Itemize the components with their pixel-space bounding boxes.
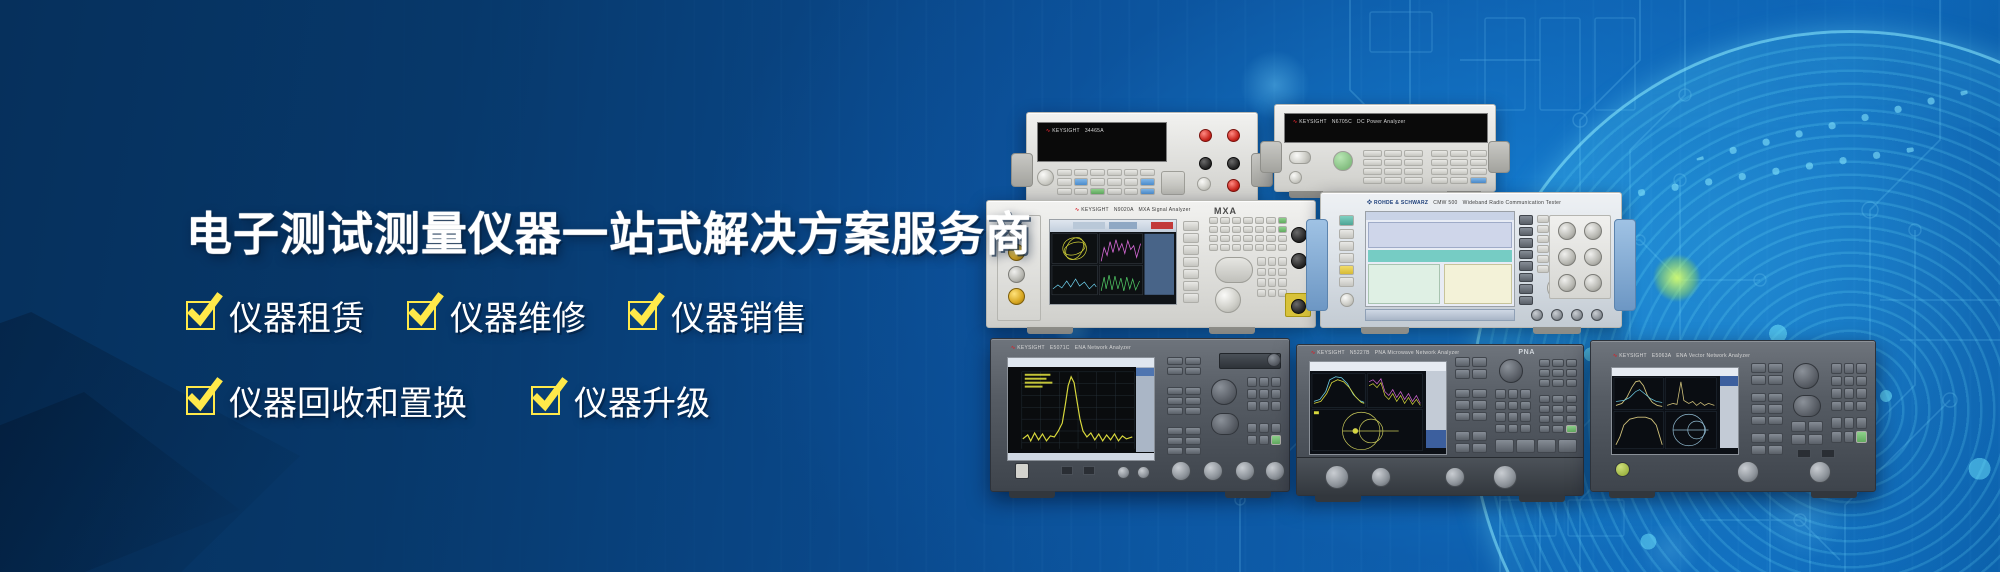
brand-label: ∿ KEYSIGHT 34465A xyxy=(1046,128,1104,134)
usb-port[interactable] xyxy=(1061,466,1073,475)
instrument-foot xyxy=(1009,491,1055,498)
brand-label: ∿ KEYSIGHT N9020A MXA Signal Analyzer xyxy=(1075,207,1191,213)
feature-list: 仪器租赁 仪器维修 仪器销售 xyxy=(186,291,1032,425)
check-mark-icon xyxy=(405,291,445,331)
screen-highlight-row xyxy=(1368,250,1512,262)
cmw-screen xyxy=(1365,211,1515,307)
numeric-keypad[interactable] xyxy=(1831,363,1867,411)
cmw-rf-port-panel xyxy=(1549,215,1611,299)
instrument-ena-vector-network-analyzer: ∿ KEYSIGHT E5063A ENA Vector Network Ana… xyxy=(1590,340,1876,492)
checkbox-checked-icon xyxy=(407,301,436,330)
feature-item-upgrade[interactable]: 仪器升级 xyxy=(531,376,710,425)
feature-label: 仪器升级 xyxy=(574,376,710,425)
usb-port[interactable] xyxy=(1797,449,1811,458)
instrument-signal-analyzer-mxa: ∿ KEYSIGHT N9020A MXA Signal Analyzer MX… xyxy=(986,200,1316,328)
active-channel-keys[interactable] xyxy=(1167,357,1201,375)
response-keys[interactable] xyxy=(1751,393,1783,425)
measurement-keys[interactable] xyxy=(1455,357,1487,379)
test-port-3[interactable] xyxy=(1371,467,1391,487)
brand-label: ∿ KEYSIGHT N6705C DC Power Analyzer xyxy=(1293,119,1406,125)
mxa-screen xyxy=(1049,219,1177,305)
test-port-4[interactable] xyxy=(1265,461,1285,481)
feature-row-2: 仪器回收和置换 仪器升级 xyxy=(186,376,1032,425)
instrument-foot xyxy=(1361,327,1409,334)
ena-control-panel xyxy=(1167,353,1283,465)
check-mark-icon xyxy=(184,376,224,416)
test-port-2[interactable] xyxy=(1809,461,1831,483)
input-terminal-hi[interactable] xyxy=(1199,129,1212,142)
instrument-digital-multimeter: ∿ KEYSIGHT 34465A xyxy=(1026,112,1258,204)
multimeter-keypad[interactable] xyxy=(1057,169,1155,195)
ena-vna-screen xyxy=(1611,367,1739,455)
probe-power-port[interactable] xyxy=(1137,466,1150,479)
banner-copy: 电子测试测量仪器一站式解决方案服务商 仪器租赁 xyxy=(186,208,1032,425)
utility-keys[interactable] xyxy=(1539,359,1577,387)
test-port-1[interactable] xyxy=(1325,465,1349,489)
entry-keys[interactable] xyxy=(1539,395,1577,433)
rf-port-6[interactable] xyxy=(1584,274,1602,292)
pna-badge: PNA xyxy=(1518,349,1535,356)
probe-power-port[interactable] xyxy=(1117,466,1130,479)
feature-label: 仪器维修 xyxy=(450,291,586,340)
rf-output-port[interactable] xyxy=(1291,227,1307,243)
instrument-ena-spectrum-analyzer: ∿ KEYSIGHT E5071C ENA Network Analyzer xyxy=(990,338,1290,492)
power-button[interactable] xyxy=(1615,462,1630,477)
instrument-state-keys[interactable] xyxy=(1831,417,1867,443)
instrument-radio-communication-tester: ❖ ROHDE & SCHWARZ CMW 500 Wideband Radio… xyxy=(1320,192,1622,328)
test-port-2[interactable] xyxy=(1493,465,1517,489)
output-on-button[interactable] xyxy=(1333,151,1353,171)
test-port-2[interactable] xyxy=(1203,461,1223,481)
pna-control-panel xyxy=(1455,357,1579,457)
rf-port-1[interactable] xyxy=(1558,222,1576,240)
stimulus-keys[interactable] xyxy=(1751,433,1783,455)
instrument-handle xyxy=(1488,141,1510,173)
instrument-state-keys[interactable] xyxy=(1247,423,1281,445)
instrument-foot xyxy=(1289,191,1323,198)
response-keys[interactable] xyxy=(1167,387,1201,415)
instrument-handle xyxy=(1614,219,1636,311)
check-mark-icon xyxy=(529,376,569,416)
mxa-function-keys[interactable] xyxy=(1209,217,1287,251)
feature-item-recycle-exchange[interactable]: 仪器回收和置换 xyxy=(186,376,467,425)
instrument-handle xyxy=(1260,141,1282,173)
power-keypad-left[interactable] xyxy=(1363,150,1423,184)
test-port-4[interactable] xyxy=(1445,467,1465,487)
rf-input-port[interactable] xyxy=(1291,253,1307,269)
cmw-left-buttons[interactable] xyxy=(1337,215,1357,311)
page-title: 电子测试测量仪器一站式解决方案服务商 xyxy=(186,208,1032,261)
ena-vna-control-panel xyxy=(1751,363,1867,459)
navigation-pad[interactable] xyxy=(1161,171,1185,195)
stimulus-keys[interactable] xyxy=(1455,431,1487,453)
instrument-foot xyxy=(1609,491,1655,498)
instrument-foot xyxy=(1533,327,1581,334)
rf-in-connector[interactable] xyxy=(1291,299,1306,314)
test-port-1[interactable] xyxy=(1171,461,1191,481)
checkbox-checked-icon xyxy=(531,386,560,415)
check-mark-icon xyxy=(626,291,666,331)
stimulus-keys[interactable] xyxy=(1167,427,1201,455)
instrument-foot xyxy=(1225,491,1271,498)
brand-label: ∿ KEYSIGHT E5063A ENA Vector Network Ana… xyxy=(1613,353,1750,359)
feature-label: 仪器租赁 xyxy=(229,291,365,340)
arrow-pad[interactable] xyxy=(1215,257,1253,283)
instrument-foot xyxy=(1315,495,1361,502)
checkbox-checked-icon xyxy=(628,301,657,330)
bnc-port[interactable] xyxy=(1531,309,1543,321)
menu-button[interactable] xyxy=(1289,151,1311,164)
brand-label: ∿ KEYSIGHT N5227B PNA Microwave Network … xyxy=(1311,350,1459,356)
promo-banner: ∿ KEYSIGHT 34465A ∿ KEYSIGHT N670 xyxy=(0,0,2000,572)
input-terminal-lo[interactable] xyxy=(1199,157,1212,170)
pna-trace-graphics xyxy=(1310,362,1446,455)
mxa-numeric-keys[interactable] xyxy=(1257,257,1287,297)
screen-table xyxy=(1368,222,1512,248)
output-terminal-lo[interactable] xyxy=(1227,157,1240,170)
rotary-knob[interactable] xyxy=(1211,379,1237,405)
rotary-knob[interactable] xyxy=(1793,363,1819,389)
bokeh-light-6 xyxy=(1640,520,1700,572)
screen-params-panel xyxy=(1444,264,1512,304)
mxa-trace-graphics xyxy=(1050,220,1176,305)
instrument-cluster: ∿ KEYSIGHT 34465A ∿ KEYSIGHT N670 xyxy=(990,96,1990,516)
output-terminal-hi[interactable] xyxy=(1227,129,1240,142)
power-analyzer-display: ∿ KEYSIGHT N6705C DC Power Analyzer xyxy=(1284,113,1488,143)
instrument-handle xyxy=(1011,153,1033,187)
feature-label: 仪器销售 xyxy=(671,291,807,340)
rotary-knob[interactable] xyxy=(1499,359,1523,383)
bnc-port[interactable] xyxy=(1551,309,1563,321)
pna-port-bar xyxy=(1297,457,1583,495)
check-mark-icon xyxy=(184,291,224,331)
ena-vna-trace-graphics xyxy=(1612,368,1738,455)
power-knob[interactable] xyxy=(1289,171,1302,184)
checkbox-checked-icon xyxy=(186,301,215,330)
instrument-foot xyxy=(1519,495,1565,502)
terminal-selector[interactable] xyxy=(1197,177,1211,191)
cmw-bottom-softkeys[interactable] xyxy=(1365,309,1515,321)
instrument-power-analyzer: ∿ KEYSIGHT N6705C DC Power Analyzer xyxy=(1274,104,1496,192)
test-set-knob[interactable] xyxy=(1267,353,1281,367)
usb-port[interactable] xyxy=(1821,449,1835,458)
marker-keys[interactable] xyxy=(1791,421,1823,445)
numeric-keypad[interactable] xyxy=(1495,389,1531,433)
screen-tree-panel xyxy=(1368,264,1440,304)
mxa-softkeys[interactable] xyxy=(1183,221,1199,303)
bnc-port[interactable] xyxy=(1591,309,1603,321)
rf-port-2[interactable] xyxy=(1584,222,1602,240)
feature-item-rental[interactable]: 仪器租赁 xyxy=(186,291,365,340)
instrument-pna-network-analyzer: ∿ KEYSIGHT N5227B PNA Microwave Network … xyxy=(1296,344,1584,496)
instrument-foot xyxy=(1027,327,1073,334)
pna-screen xyxy=(1309,361,1447,455)
instrument-foot xyxy=(1811,491,1857,498)
brand-label: ❖ ROHDE & SCHWARZ CMW 500 Wideband Radio… xyxy=(1367,199,1561,206)
navigation-pad[interactable] xyxy=(1793,395,1821,417)
multimeter-display: ∿ KEYSIGHT 34465A xyxy=(1037,122,1167,162)
bnc-port[interactable] xyxy=(1571,309,1583,321)
rotary-knob[interactable] xyxy=(1215,287,1241,313)
power-knob[interactable] xyxy=(1340,293,1354,307)
rf-port-3[interactable] xyxy=(1558,248,1576,266)
feature-item-repair[interactable]: 仪器维修 xyxy=(407,291,586,340)
screen-menu-bar xyxy=(1366,212,1514,220)
feature-label: 仪器回收和置换 xyxy=(229,376,467,425)
active-channel-keys[interactable] xyxy=(1751,363,1783,385)
instrument-handle xyxy=(1306,219,1328,311)
test-port-1[interactable] xyxy=(1737,461,1759,483)
power-keypad-right[interactable] xyxy=(1431,150,1487,184)
softkey-row[interactable] xyxy=(1495,439,1577,453)
mxa-badge: MXA xyxy=(1214,206,1237,216)
entry-keypad[interactable] xyxy=(1247,377,1281,411)
power-knob[interactable] xyxy=(1037,169,1054,186)
feature-row-1: 仪器租赁 仪器维修 仪器销售 xyxy=(186,291,1032,340)
power-button[interactable] xyxy=(1015,463,1029,479)
navigation-pad[interactable] xyxy=(1211,413,1239,435)
feature-item-sales[interactable]: 仪器销售 xyxy=(628,291,807,340)
instrument-foot xyxy=(1209,327,1255,334)
current-terminal[interactable] xyxy=(1227,179,1240,192)
usb-port[interactable] xyxy=(1083,466,1095,475)
rf-port-5[interactable] xyxy=(1558,274,1576,292)
rf-port-4[interactable] xyxy=(1584,248,1602,266)
response-keys[interactable] xyxy=(1455,389,1487,421)
checkbox-checked-icon xyxy=(186,386,215,415)
test-port-3[interactable] xyxy=(1235,461,1255,481)
cmw-softkeys[interactable] xyxy=(1519,215,1533,305)
